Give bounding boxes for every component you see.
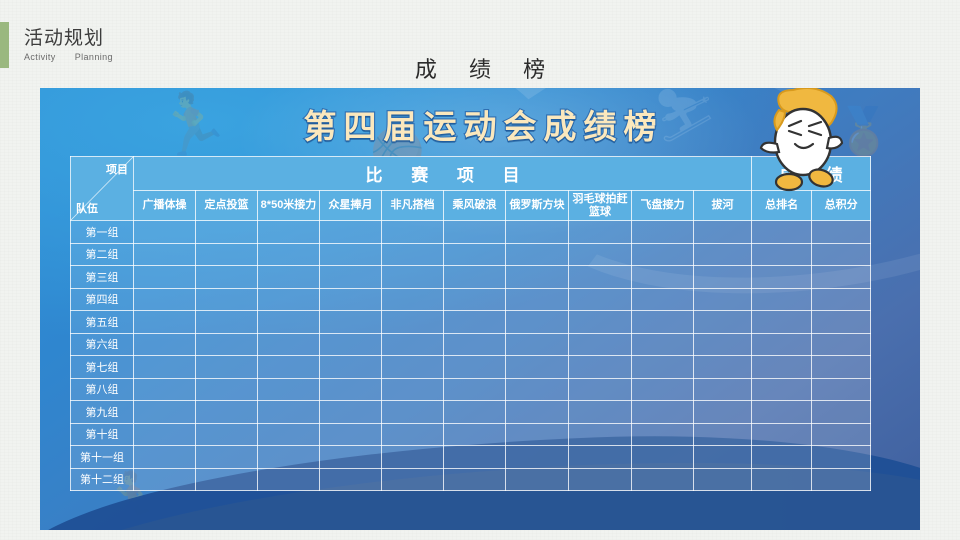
- row-label-cell: 第六组: [71, 333, 134, 356]
- score-cell[interactable]: [694, 378, 752, 401]
- row-label-cell: 第四组: [71, 288, 134, 311]
- score-cell[interactable]: [812, 446, 871, 469]
- table-row: 第三组: [71, 266, 871, 289]
- score-cell[interactable]: [196, 243, 258, 266]
- score-cell[interactable]: [382, 356, 444, 379]
- score-cell[interactable]: [258, 356, 320, 379]
- score-cell[interactable]: [382, 221, 444, 244]
- table-row: 第六组: [71, 333, 871, 356]
- score-cell[interactable]: [382, 468, 444, 491]
- score-cell[interactable]: [506, 401, 569, 424]
- page-title: 成 绩 榜: [0, 52, 960, 84]
- score-cell[interactable]: [632, 243, 694, 266]
- score-cell[interactable]: [694, 333, 752, 356]
- table-row: 第五组: [71, 311, 871, 334]
- score-cell[interactable]: [258, 446, 320, 469]
- score-cell[interactable]: [320, 288, 382, 311]
- score-cell[interactable]: [569, 221, 632, 244]
- score-cell[interactable]: [632, 446, 694, 469]
- score-cell[interactable]: [632, 401, 694, 424]
- table-row: 第九组: [71, 401, 871, 424]
- score-cell[interactable]: [506, 378, 569, 401]
- score-cell[interactable]: [752, 423, 812, 446]
- score-cell[interactable]: [752, 378, 812, 401]
- header-chinese-title: 活动规划: [24, 28, 113, 50]
- score-cell[interactable]: [569, 446, 632, 469]
- score-cell[interactable]: [812, 356, 871, 379]
- score-cell[interactable]: [320, 333, 382, 356]
- score-cell[interactable]: [752, 401, 812, 424]
- score-cell[interactable]: [694, 401, 752, 424]
- corner-team-label: 队伍: [76, 200, 98, 216]
- score-cell[interactable]: [382, 378, 444, 401]
- score-cell[interactable]: [134, 423, 196, 446]
- column-header-bahe: 拔河: [694, 191, 752, 221]
- column-header-dingdiantoulan: 定点投篮: [196, 191, 258, 221]
- score-cell[interactable]: [196, 423, 258, 446]
- score-cell[interactable]: [444, 423, 506, 446]
- score-cell[interactable]: [382, 401, 444, 424]
- score-cell[interactable]: [752, 243, 812, 266]
- score-cell[interactable]: [812, 378, 871, 401]
- score-cell[interactable]: [134, 446, 196, 469]
- score-cell[interactable]: [506, 266, 569, 289]
- row-label-cell: 第十二组: [71, 468, 134, 491]
- row-label-cell: 第三组: [71, 266, 134, 289]
- score-cell[interactable]: [506, 468, 569, 491]
- score-cell[interactable]: [382, 446, 444, 469]
- score-cell[interactable]: [752, 468, 812, 491]
- score-cell[interactable]: [694, 288, 752, 311]
- score-cell[interactable]: [812, 468, 871, 491]
- score-cell[interactable]: [812, 423, 871, 446]
- score-cell[interactable]: [632, 423, 694, 446]
- score-cell[interactable]: [258, 423, 320, 446]
- column-header-eluosifangkuai: 俄罗斯方块: [506, 191, 569, 221]
- score-cell[interactable]: [196, 378, 258, 401]
- score-cell[interactable]: [506, 243, 569, 266]
- row-label-cell: 第五组: [71, 311, 134, 334]
- score-cell[interactable]: [812, 243, 871, 266]
- score-cell[interactable]: [694, 356, 752, 379]
- row-label-cell: 第十组: [71, 423, 134, 446]
- score-cell[interactable]: [812, 266, 871, 289]
- table-row: 第十二组: [71, 468, 871, 491]
- score-cell[interactable]: [382, 288, 444, 311]
- table-row: 第八组: [71, 378, 871, 401]
- score-cell[interactable]: [752, 221, 812, 244]
- row-label-cell: 第八组: [71, 378, 134, 401]
- score-cell[interactable]: [134, 356, 196, 379]
- score-cell[interactable]: [320, 356, 382, 379]
- column-header-guangbotica: 广播体操: [134, 191, 196, 221]
- score-cell[interactable]: [569, 423, 632, 446]
- score-cell[interactable]: [506, 311, 569, 334]
- score-cell[interactable]: [196, 446, 258, 469]
- column-header-feifandadang: 非凡搭档: [382, 191, 444, 221]
- score-cell[interactable]: [258, 333, 320, 356]
- score-cell[interactable]: [196, 356, 258, 379]
- wave-blue: [40, 497, 920, 530]
- score-cell[interactable]: [632, 468, 694, 491]
- score-cell[interactable]: [694, 243, 752, 266]
- score-cell[interactable]: [444, 288, 506, 311]
- score-cell[interactable]: [752, 446, 812, 469]
- score-cell[interactable]: [812, 311, 871, 334]
- score-cell[interactable]: [320, 221, 382, 244]
- score-cell[interactable]: [444, 333, 506, 356]
- score-cell[interactable]: [196, 266, 258, 289]
- score-cell[interactable]: [320, 401, 382, 424]
- scoreboard-table: 项目 队伍 比 赛 项 目 成 绩 广播体操 定点投篮 8*50米接力 众星捧月…: [70, 156, 871, 491]
- score-cell[interactable]: [506, 356, 569, 379]
- score-cell[interactable]: [752, 356, 812, 379]
- score-cell[interactable]: [134, 221, 196, 244]
- score-cell[interactable]: [569, 468, 632, 491]
- score-cell[interactable]: [694, 468, 752, 491]
- column-header-badminton-basketball: 羽毛球拍赶篮球: [569, 191, 632, 221]
- score-cell[interactable]: [632, 333, 694, 356]
- score-cell[interactable]: [382, 243, 444, 266]
- score-cell[interactable]: [134, 243, 196, 266]
- score-cell[interactable]: [506, 333, 569, 356]
- score-cell[interactable]: [258, 401, 320, 424]
- score-cell[interactable]: [320, 423, 382, 446]
- score-cell[interactable]: [506, 221, 569, 244]
- score-cell[interactable]: [752, 266, 812, 289]
- column-header-zhongxingpengyue: 众星捧月: [320, 191, 382, 221]
- corner-item-label: 项目: [106, 161, 128, 177]
- score-cell[interactable]: [320, 266, 382, 289]
- row-label-cell: 第十一组: [71, 446, 134, 469]
- score-cell[interactable]: [444, 311, 506, 334]
- score-cell[interactable]: [506, 423, 569, 446]
- score-cell[interactable]: [134, 401, 196, 424]
- score-cell[interactable]: [134, 266, 196, 289]
- score-cell[interactable]: [134, 378, 196, 401]
- score-cell[interactable]: [134, 468, 196, 491]
- score-cell[interactable]: [382, 311, 444, 334]
- column-header-8x50-relay: 8*50米接力: [258, 191, 320, 221]
- score-cell[interactable]: [258, 288, 320, 311]
- score-cell[interactable]: [382, 333, 444, 356]
- score-cell[interactable]: [196, 333, 258, 356]
- score-cell[interactable]: [382, 266, 444, 289]
- score-cell[interactable]: [444, 378, 506, 401]
- score-cell[interactable]: [752, 333, 812, 356]
- score-cell[interactable]: [134, 333, 196, 356]
- score-cell[interactable]: [258, 378, 320, 401]
- score-cell[interactable]: [134, 311, 196, 334]
- score-cell[interactable]: [320, 311, 382, 334]
- score-cell[interactable]: [752, 288, 812, 311]
- scoreboard-panel: 🏃 🏀 ⛷ 🏅 🏃 🤸 🏍 第四届运动会成绩榜: [40, 88, 920, 530]
- score-cell[interactable]: [694, 311, 752, 334]
- score-cell[interactable]: [444, 401, 506, 424]
- table-body: 第一组第二组第三组第四组第五组第六组第七组第八组第九组第十组第十一组第十二组: [71, 221, 871, 491]
- mascot-icon: [745, 88, 865, 196]
- score-cell[interactable]: [812, 288, 871, 311]
- row-label-cell: 第二组: [71, 243, 134, 266]
- score-cell[interactable]: [320, 243, 382, 266]
- score-cell[interactable]: [632, 288, 694, 311]
- score-cell[interactable]: [196, 221, 258, 244]
- table-row: 第四组: [71, 288, 871, 311]
- score-cell[interactable]: [444, 446, 506, 469]
- score-cell[interactable]: [812, 333, 871, 356]
- score-cell[interactable]: [812, 401, 871, 424]
- score-cell[interactable]: [694, 266, 752, 289]
- score-cell[interactable]: [506, 446, 569, 469]
- table-row: 第二组: [71, 243, 871, 266]
- score-cell[interactable]: [632, 356, 694, 379]
- score-cell[interactable]: [569, 311, 632, 334]
- column-header-feipanjieli: 飞盘接力: [632, 191, 694, 221]
- score-cell[interactable]: [632, 311, 694, 334]
- score-cell[interactable]: [444, 266, 506, 289]
- score-cell[interactable]: [444, 356, 506, 379]
- score-cell[interactable]: [258, 311, 320, 334]
- row-label-cell: 第一组: [71, 221, 134, 244]
- score-cell[interactable]: [196, 288, 258, 311]
- score-cell[interactable]: [382, 423, 444, 446]
- score-cell[interactable]: [569, 401, 632, 424]
- score-cell[interactable]: [258, 468, 320, 491]
- score-cell[interactable]: [694, 423, 752, 446]
- score-cell[interactable]: [320, 446, 382, 469]
- score-cell[interactable]: [569, 266, 632, 289]
- score-cell[interactable]: [134, 288, 196, 311]
- score-cell[interactable]: [632, 378, 694, 401]
- score-cell[interactable]: [258, 266, 320, 289]
- table-row: 第七组: [71, 356, 871, 379]
- column-header-chengfengpolang: 乘风破浪: [444, 191, 506, 221]
- score-cell[interactable]: [258, 243, 320, 266]
- score-cell[interactable]: [632, 221, 694, 244]
- score-cell[interactable]: [694, 446, 752, 469]
- score-cell[interactable]: [569, 333, 632, 356]
- score-cell[interactable]: [320, 468, 382, 491]
- score-cell[interactable]: [694, 221, 752, 244]
- score-cell[interactable]: [569, 288, 632, 311]
- score-cell[interactable]: [752, 311, 812, 334]
- table-row: 第十一组: [71, 446, 871, 469]
- score-cell[interactable]: [569, 356, 632, 379]
- score-cell[interactable]: [444, 468, 506, 491]
- score-cell[interactable]: [320, 378, 382, 401]
- score-cell[interactable]: [812, 221, 871, 244]
- row-label-cell: 第七组: [71, 356, 134, 379]
- table-corner-cell: 项目 队伍: [71, 157, 134, 221]
- score-cell[interactable]: [196, 468, 258, 491]
- score-cell[interactable]: [569, 378, 632, 401]
- score-cell[interactable]: [632, 266, 694, 289]
- score-cell[interactable]: [258, 221, 320, 244]
- score-cell[interactable]: [444, 243, 506, 266]
- score-cell[interactable]: [196, 311, 258, 334]
- table-row: 第十组: [71, 423, 871, 446]
- table-row: 第一组: [71, 221, 871, 244]
- score-cell[interactable]: [569, 243, 632, 266]
- group-header-events: 比 赛 项 目: [134, 157, 752, 191]
- row-label-cell: 第九组: [71, 401, 134, 424]
- score-cell[interactable]: [444, 221, 506, 244]
- score-cell[interactable]: [506, 288, 569, 311]
- score-cell[interactable]: [196, 401, 258, 424]
